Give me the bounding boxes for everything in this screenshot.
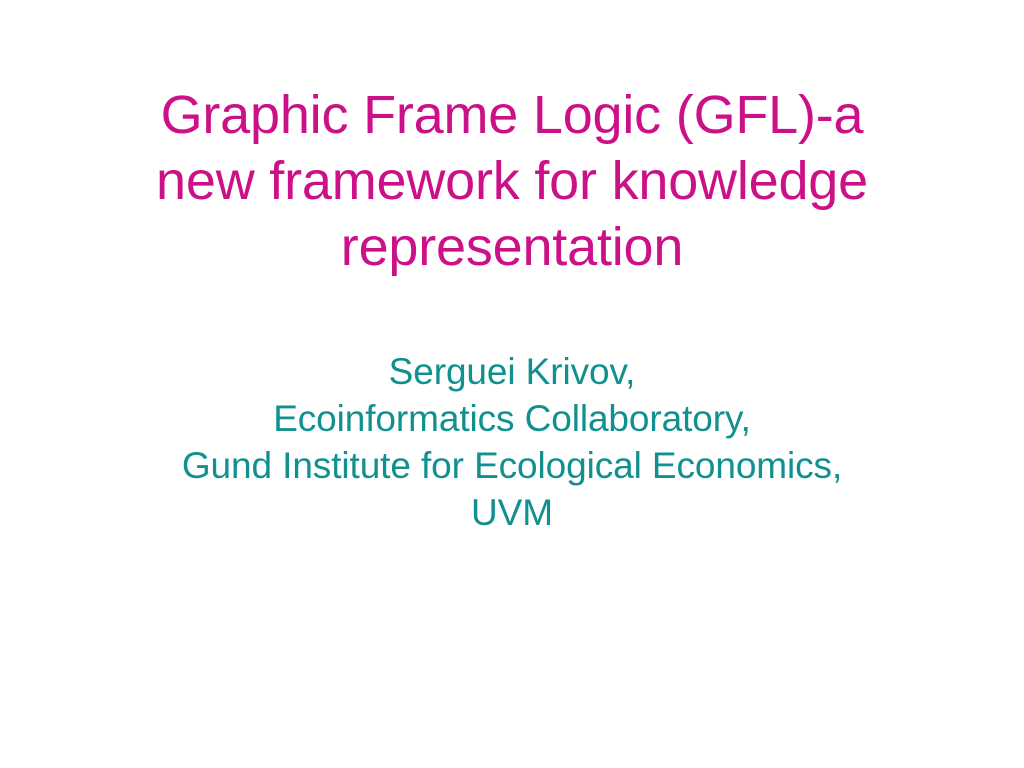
subtitle-organization: Ecoinformatics Collaboratory,: [150, 395, 874, 442]
presentation-slide: Graphic Frame Logic (GFL)-a new framewor…: [0, 0, 1024, 768]
title-line-3: representation: [62, 214, 962, 280]
subtitle-institute: Gund Institute for Ecological Economics,…: [150, 442, 874, 536]
title-line-2: new framework for knowledge: [62, 148, 962, 214]
slide-subtitle: Serguei Krivov, Ecoinformatics Collabora…: [150, 348, 874, 536]
title-line-1: Graphic Frame Logic (GFL)-a: [62, 82, 962, 148]
subtitle-author: Serguei Krivov,: [150, 348, 874, 395]
slide-title: Graphic Frame Logic (GFL)-a new framewor…: [62, 82, 962, 280]
slide-body-empty-area: [0, 540, 1024, 768]
